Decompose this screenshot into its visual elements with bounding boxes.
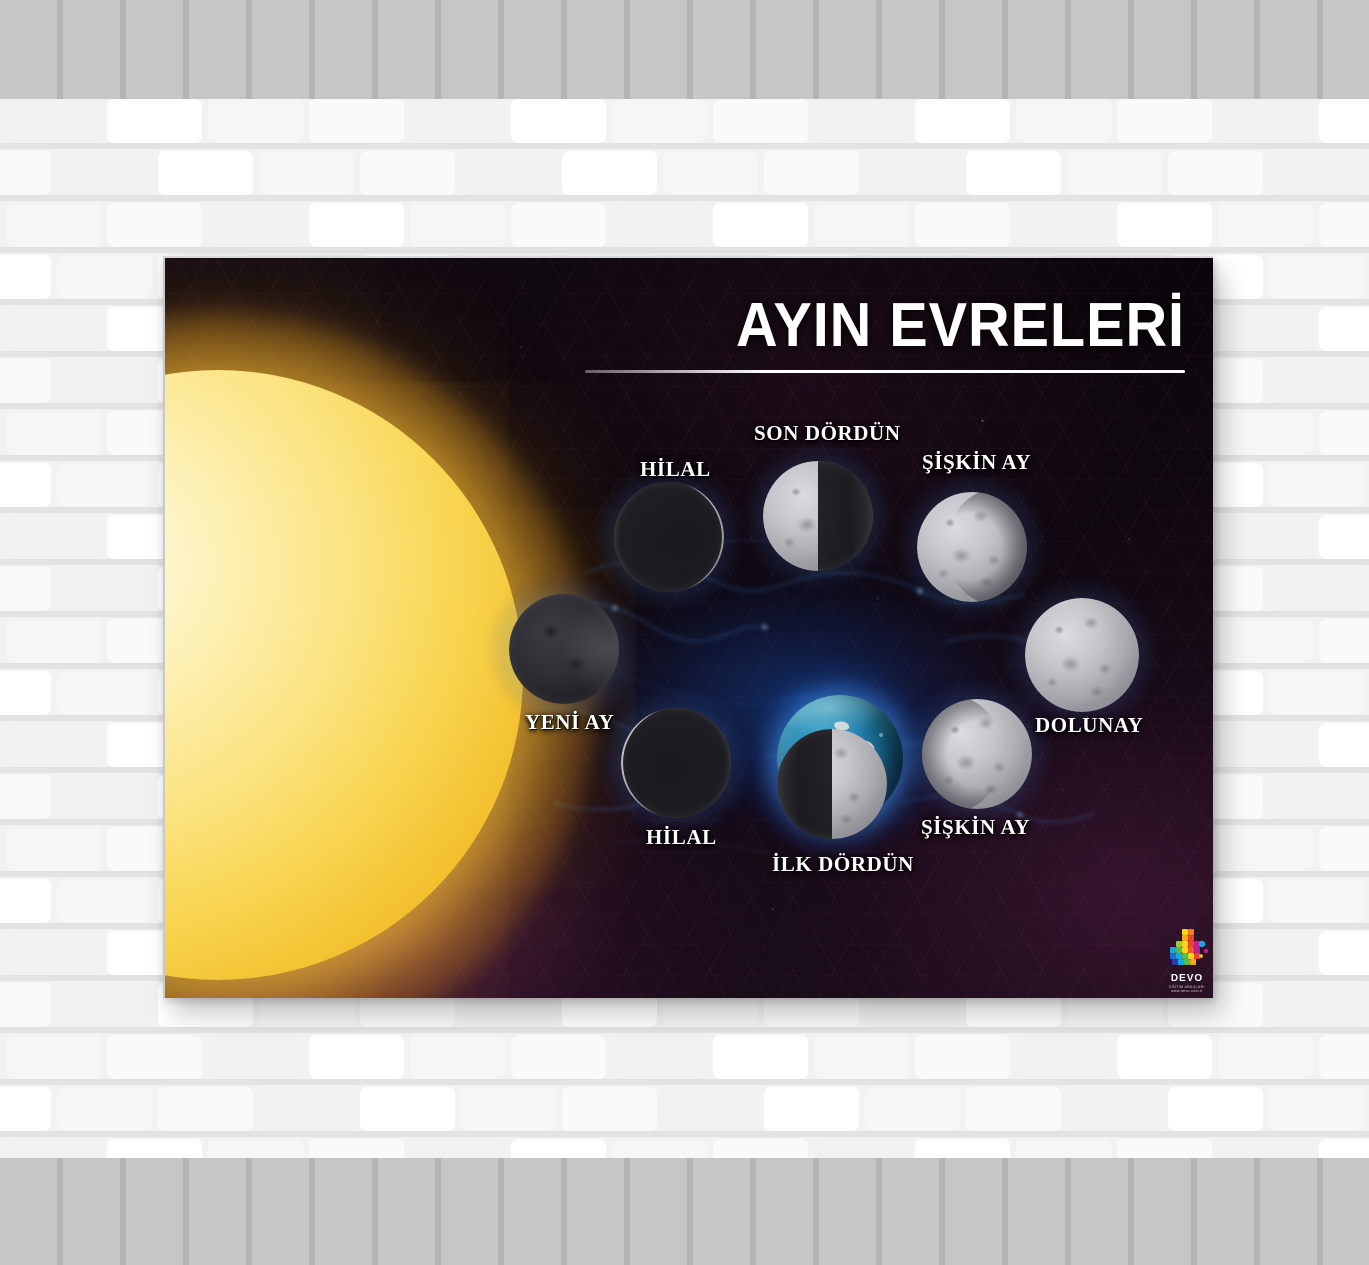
devo-pixel-hand-icon	[1160, 928, 1213, 974]
label-waning-gibbous: ŞİŞKİN AY	[922, 450, 1031, 475]
brick	[1067, 1087, 1162, 1131]
brick	[6, 1035, 101, 1079]
brick	[663, 1087, 758, 1131]
brick	[57, 983, 152, 1027]
brick	[1319, 307, 1369, 351]
brick	[57, 359, 152, 403]
title-underline	[585, 370, 1185, 373]
brick	[309, 99, 404, 143]
brick	[1218, 827, 1313, 871]
brick	[1319, 827, 1369, 871]
moon-waxing-crescent	[621, 708, 731, 818]
brick	[1319, 723, 1369, 767]
title-block: AYIN EVRELERİ	[585, 293, 1185, 373]
brick	[6, 723, 101, 767]
brick	[410, 203, 505, 247]
moon-phases-poster: AYIN EVRELERİ	[163, 256, 1213, 998]
moon-disc	[509, 594, 619, 704]
brick	[410, 1035, 505, 1079]
brick	[1016, 203, 1111, 247]
brick	[6, 931, 101, 975]
page-title: AYIN EVRELERİ	[627, 293, 1185, 358]
brick	[0, 983, 51, 1027]
brick	[1269, 983, 1364, 1027]
brick	[360, 1087, 455, 1131]
brick	[57, 463, 152, 507]
brick	[6, 827, 101, 871]
brick	[208, 99, 303, 143]
moon-disc	[614, 482, 724, 592]
wall-bottom-band	[0, 1158, 1369, 1265]
label-waning-crescent: HİLAL	[640, 457, 711, 482]
logo-brand-name: DEVO	[1160, 974, 1213, 985]
brick-row	[0, 97, 1369, 149]
brick	[814, 99, 909, 143]
brick	[6, 203, 101, 247]
brick	[511, 203, 606, 247]
brick	[360, 151, 455, 195]
brick	[1016, 99, 1111, 143]
label-waxing-gibbous: ŞİŞKİN AY	[921, 815, 1030, 840]
brick	[1319, 515, 1369, 559]
moon-disc	[621, 708, 731, 818]
brick	[461, 151, 556, 195]
moon-waxing-gibbous	[922, 699, 1032, 809]
brick	[6, 411, 101, 455]
brick	[107, 99, 202, 143]
brick	[612, 99, 707, 143]
brick	[1117, 1035, 1212, 1079]
brick	[1117, 99, 1212, 143]
brick	[1269, 671, 1364, 715]
brick	[6, 99, 101, 143]
moon-new-moon	[509, 594, 619, 704]
brick	[1269, 1087, 1364, 1131]
moon-waning-crescent	[614, 482, 724, 592]
moon-waning-gibbous	[917, 492, 1027, 602]
brick	[259, 1087, 354, 1131]
brick	[57, 567, 152, 611]
label-full-moon: DOLUNAY	[1035, 713, 1143, 738]
moon-surface	[1025, 598, 1139, 712]
brick	[612, 1035, 707, 1079]
brick	[0, 463, 51, 507]
label-first-quarter: İLK DÖRDÜN	[772, 852, 914, 877]
brick	[1218, 619, 1313, 663]
brick	[511, 1035, 606, 1079]
moon-terminator	[509, 594, 619, 704]
brick	[1319, 931, 1369, 975]
brick	[764, 1087, 859, 1131]
brick	[208, 1035, 303, 1079]
brick	[410, 99, 505, 143]
wall-top-band	[0, 0, 1369, 99]
brick	[158, 1087, 253, 1131]
brick	[612, 203, 707, 247]
moon-shadow	[623, 708, 731, 818]
brick	[1269, 151, 1364, 195]
wall-scene: AYIN EVRELERİ	[0, 0, 1369, 1265]
brick	[865, 1087, 960, 1131]
brick	[814, 1035, 909, 1079]
label-last-quarter: SON DÖRDÜN	[754, 421, 901, 446]
brick	[309, 203, 404, 247]
brick	[1218, 411, 1313, 455]
brick	[1168, 1087, 1263, 1131]
brick	[915, 203, 1010, 247]
moon-shadow	[818, 461, 873, 571]
brick	[0, 671, 51, 715]
moon-disc	[763, 461, 873, 571]
brick-row	[0, 1085, 1369, 1137]
brick	[57, 775, 152, 819]
brick	[57, 671, 152, 715]
brick	[0, 255, 51, 299]
brick	[259, 151, 354, 195]
brick	[1218, 515, 1313, 559]
brick	[107, 203, 202, 247]
moon-shadow	[614, 482, 722, 592]
brick	[0, 775, 51, 819]
brick	[6, 515, 101, 559]
brick	[511, 99, 606, 143]
brick	[57, 255, 152, 299]
brick	[1319, 99, 1369, 143]
brick	[713, 203, 808, 247]
brick	[0, 567, 51, 611]
moon-disc	[922, 699, 1032, 809]
brick	[0, 359, 51, 403]
brick	[1269, 463, 1364, 507]
brick	[1319, 619, 1369, 663]
brick	[57, 151, 152, 195]
brick-row	[0, 201, 1369, 253]
brick	[966, 1087, 1061, 1131]
brick	[6, 619, 101, 663]
brick	[663, 151, 758, 195]
brick	[966, 151, 1061, 195]
brick	[1168, 151, 1263, 195]
brick	[1269, 359, 1364, 403]
moon-full-moon	[1025, 598, 1139, 712]
brick	[6, 307, 101, 351]
brick	[713, 99, 808, 143]
brick	[158, 151, 253, 195]
moon-shadow	[777, 729, 832, 839]
brick-row	[0, 149, 1369, 201]
brick	[57, 879, 152, 923]
brick	[57, 1087, 152, 1131]
brick	[764, 151, 859, 195]
brick	[1067, 151, 1162, 195]
brick	[562, 1087, 657, 1131]
moon-first-quarter	[777, 729, 887, 839]
brick	[1218, 203, 1313, 247]
brick	[713, 1035, 808, 1079]
brick	[915, 1035, 1010, 1079]
brick	[1269, 879, 1364, 923]
brick	[915, 99, 1010, 143]
brick	[1319, 411, 1369, 455]
brick	[309, 1035, 404, 1079]
brick	[1319, 1035, 1369, 1079]
moon-disc	[917, 492, 1027, 602]
brick-row	[0, 1033, 1369, 1085]
brand-logo: DEVO EĞİTİM ARAÇLARI www.devo.com.tr	[1160, 928, 1213, 994]
brick	[0, 151, 51, 195]
brick	[107, 1035, 202, 1079]
brick	[1218, 1035, 1313, 1079]
brick	[1016, 1035, 1111, 1079]
moon-disc	[777, 729, 887, 839]
brick	[1218, 99, 1313, 143]
moon-disc	[1025, 598, 1139, 712]
brick	[1269, 255, 1364, 299]
brick	[814, 203, 909, 247]
label-waxing-crescent: HİLAL	[646, 825, 717, 850]
brick	[0, 879, 51, 923]
brick	[1218, 931, 1313, 975]
brick	[1319, 203, 1369, 247]
brick	[0, 1087, 51, 1131]
moon-shadow	[946, 492, 1027, 602]
brick	[461, 1087, 556, 1131]
brick	[1218, 307, 1313, 351]
brick	[1269, 567, 1364, 611]
devo-hand-icon	[1160, 928, 1213, 974]
brick	[1218, 723, 1313, 767]
brick	[1117, 203, 1212, 247]
brick	[562, 151, 657, 195]
moon-last-quarter	[763, 461, 873, 571]
logo-tagline-line2: www.devo.com.tr	[1160, 989, 1213, 994]
brick	[865, 151, 960, 195]
label-new-moon: YENİ AY	[525, 710, 614, 735]
brick	[208, 203, 303, 247]
brick	[1269, 775, 1364, 819]
